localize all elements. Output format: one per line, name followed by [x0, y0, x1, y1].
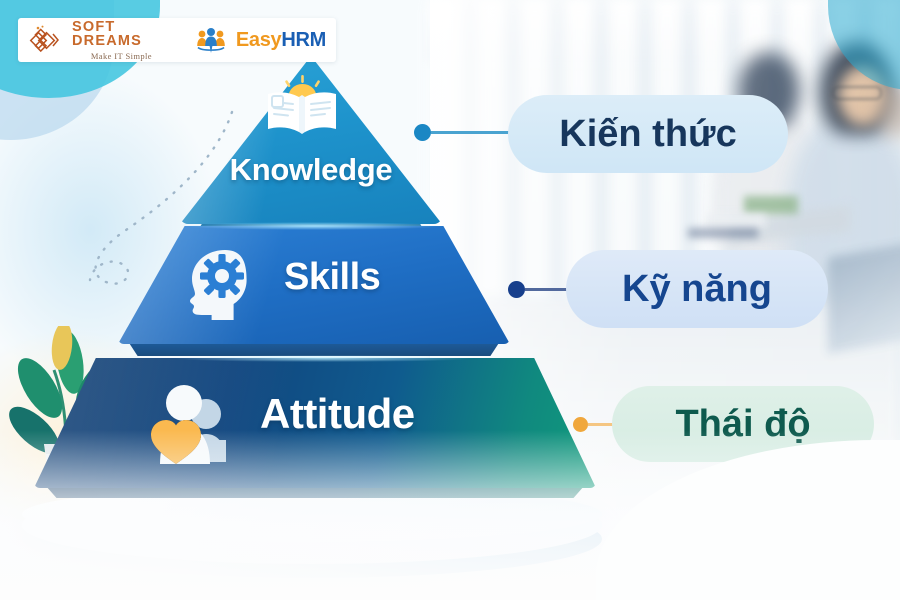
tier-skills-topglow [184, 222, 444, 230]
label-pill-skills-text: Kỹ năng [622, 268, 772, 311]
soft-dreams-name: SOFT DREAMS [72, 20, 171, 49]
pyramid-tier-skills[interactable]: Skills [118, 226, 510, 344]
connector-knowledge-line [431, 131, 515, 134]
tier-skills-label: Skills [284, 256, 380, 299]
logo-bar: SOFT DREAMS Make IT Simple EasyHRM [18, 18, 336, 62]
label-pill-knowledge[interactable]: Kiến thức [508, 95, 788, 173]
pyramid-tier-knowledge[interactable]: Knowledge [180, 56, 442, 224]
label-pill-knowledge-text: Kiến thức [559, 113, 736, 156]
easyhrm-hrm-text: HRM [281, 29, 326, 51]
easyhrm-wordmark: EasyHRM [236, 29, 326, 52]
label-pill-skills[interactable]: Kỹ năng [566, 250, 828, 328]
soft-dreams-wordmark: SOFT DREAMS Make IT Simple [72, 20, 171, 61]
diamond-knot-logo-icon [28, 25, 62, 55]
connector-skills-dot-large [508, 281, 525, 298]
connector-knowledge-dot-large [414, 124, 431, 141]
easyhrm-easy-text: Easy [236, 29, 282, 51]
tier-attitude-topglow [174, 355, 474, 362]
book-lightbulb-icon [266, 74, 342, 136]
soft-dreams-tagline: Make IT Simple [72, 52, 171, 61]
tier-knowledge-label: Knowledge [180, 152, 442, 188]
head-gear-icon [180, 248, 254, 322]
connector-knowledge [414, 124, 523, 141]
infographic-canvas: Knowledge Skills [0, 0, 900, 600]
three-people-group-icon [196, 26, 226, 54]
